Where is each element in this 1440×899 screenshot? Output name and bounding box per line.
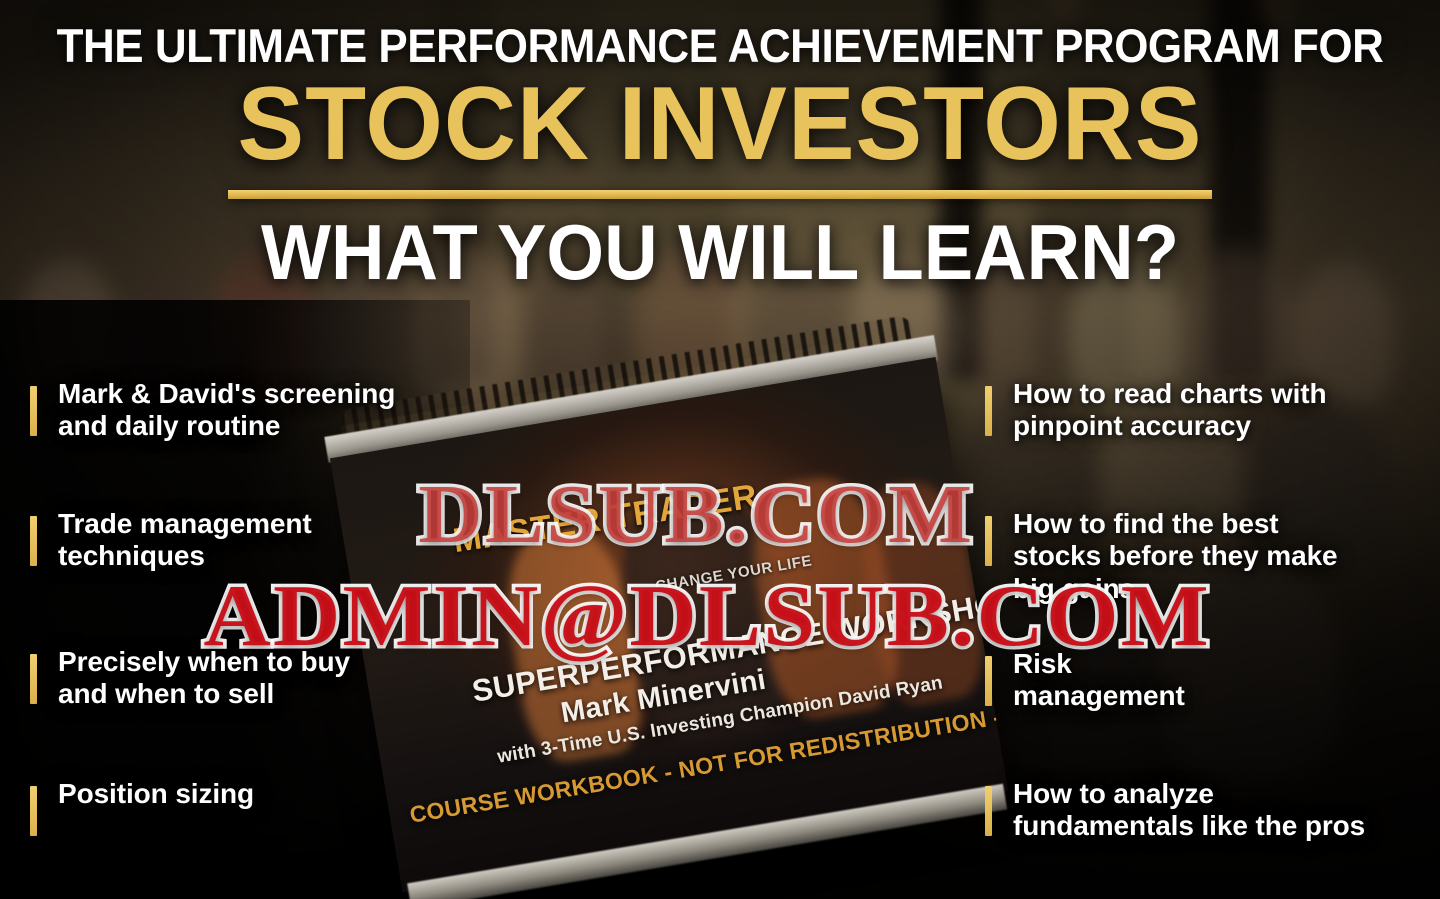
list-item: Mark & David's screening and daily routi…	[30, 378, 488, 443]
bullet-bar-icon	[985, 386, 992, 436]
list-item: Position sizing	[30, 778, 488, 810]
bullet-bar-icon	[30, 654, 37, 704]
list-item-line: pinpoint accuracy	[1013, 410, 1440, 442]
bullet-bar-icon	[30, 386, 37, 436]
gold-divider	[228, 190, 1212, 199]
email-watermark: ADMIN@DLSUB.COM	[203, 566, 1210, 667]
subheadline-question: WHAT YOU WILL LEARN?	[36, 213, 1404, 291]
list-item-line: fundamentals like the pros	[1013, 810, 1440, 842]
promo-banner: THE ULTIMATE PERFORMANCE ACHIEVEMENT PRO…	[0, 0, 1440, 899]
list-item-line: and daily routine	[58, 410, 488, 442]
list-item-line: and when to sell	[58, 678, 488, 710]
list-item-line: How to analyze	[1013, 778, 1440, 810]
site-watermark: DLSUB.COM	[418, 466, 974, 563]
kicker-headline: THE ULTIMATE PERFORMANCE ACHIEVEMENT PRO…	[47, 22, 1393, 70]
page-title: STOCK INVESTORS	[29, 74, 1411, 176]
list-item-line: management	[1013, 680, 1440, 712]
bullet-bar-icon	[30, 516, 37, 566]
list-item-line: How to find the best	[1013, 508, 1440, 540]
list-item-line: Position sizing	[58, 778, 488, 810]
list-item: How to read charts with pinpoint accurac…	[985, 378, 1440, 443]
list-item: How to analyze fundamentals like the pro…	[985, 778, 1440, 843]
bullet-bar-icon	[985, 786, 992, 836]
headline-block: THE ULTIMATE PERFORMANCE ACHIEVEMENT PRO…	[0, 0, 1440, 291]
bullet-bar-icon	[985, 516, 992, 566]
bullet-bar-icon	[30, 786, 37, 836]
list-item-line: Mark & David's screening	[58, 378, 488, 410]
list-item-line: How to read charts with	[1013, 378, 1440, 410]
